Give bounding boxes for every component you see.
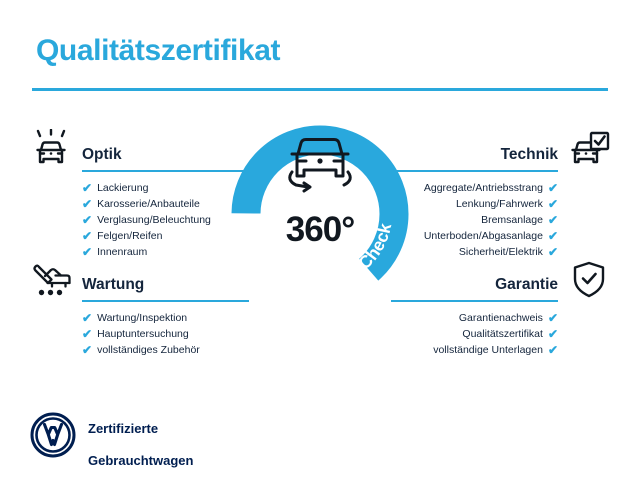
list-item-label: Hauptuntersuchung: [97, 326, 189, 342]
list-item-label: Felgen/Reifen: [97, 228, 162, 244]
list-item-label: Unterboden/Abgasanlage: [424, 228, 543, 244]
list-item-label: vollständiges Zubehör: [97, 342, 200, 358]
page-title: Qualitätszertifikat: [36, 34, 280, 68]
list-item: Aggregate/Antriebsstrang✔: [399, 180, 614, 196]
footer-line-2: Gebrauchtwagen: [88, 453, 193, 468]
title-divider: [32, 88, 608, 91]
footer-line-1: Zertifizierte: [88, 421, 158, 436]
list-item: vollständige Unterlagen✔: [399, 342, 614, 358]
check-icon: ✔: [548, 246, 558, 258]
list-item: Unterboden/Abgasanlage✔: [399, 228, 614, 244]
car-wrench-icon: [26, 258, 76, 302]
checklist-wartung: ✔Wartung/Inspektion ✔Hauptuntersuchung ✔…: [26, 310, 241, 358]
list-item-label: Wartung/Inspektion: [97, 310, 187, 326]
checklist-technik: Aggregate/Antriebsstrang✔ Lenkung/Fahrwe…: [399, 180, 614, 260]
list-item-label: Qualitätszertifikat: [462, 326, 543, 342]
section-wartung: Wartung ✔Wartung/Inspektion ✔Hauptunters…: [26, 258, 241, 358]
section-title-garantie: Garantie: [495, 276, 558, 294]
list-item: ✔Felgen/Reifen: [26, 228, 241, 244]
car-checkbox-icon: [564, 128, 614, 172]
list-item-label: vollständige Unterlagen: [433, 342, 543, 358]
check-icon: ✔: [82, 198, 92, 210]
check-icon: ✔: [82, 230, 92, 242]
list-item-label: Lackierung: [97, 180, 148, 196]
check-icon: ✔: [548, 328, 558, 340]
list-item: ✔vollständiges Zubehör: [26, 342, 241, 358]
check-icon: ✔: [82, 246, 92, 258]
section-technik: Technik Aggregate/Antriebsstrang✔ Lenkun…: [399, 128, 614, 260]
certificate-page: Qualitätszertifikat Optik ✔Lackierung ✔K…: [0, 0, 640, 480]
check-icon: ✔: [548, 198, 558, 210]
list-item-label: Karosserie/Anbauteile: [97, 196, 200, 212]
list-item: ✔Karosserie/Anbauteile: [26, 196, 241, 212]
section-header: Garantie: [399, 258, 614, 304]
list-item: ✔Wartung/Inspektion: [26, 310, 241, 326]
check-icon: ✔: [548, 312, 558, 324]
check-icon: ✔: [548, 182, 558, 194]
section-title-optik: Optik: [82, 146, 122, 164]
list-item-label: Aggregate/Antriebsstrang: [424, 180, 543, 196]
list-item-label: Verglasung/Beleuchtung: [97, 212, 211, 228]
check-icon: ✔: [82, 182, 92, 194]
section-header: Technik: [399, 128, 614, 174]
check-icon: ✔: [548, 230, 558, 242]
section-optik: Optik ✔Lackierung ✔Karosserie/Anbauteile…: [26, 128, 241, 260]
check-icon: ✔: [548, 214, 558, 226]
checklist-optik: ✔Lackierung ✔Karosserie/Anbauteile ✔Verg…: [26, 180, 241, 260]
list-item-label: Lenkung/Fahrwerk: [456, 196, 543, 212]
list-item-label: Bremsanlage: [481, 212, 543, 228]
list-item-label: Garantienachweis: [459, 310, 543, 326]
footer-text: Zertifizierte Gebrauchtwagen: [88, 405, 193, 469]
check-icon: ✔: [82, 312, 92, 324]
list-item: Bremsanlage✔: [399, 212, 614, 228]
list-item: Lenkung/Fahrwerk✔: [399, 196, 614, 212]
footer-branding: Zertifizierte Gebrauchtwagen: [30, 405, 193, 469]
car-shine-icon: [26, 128, 76, 172]
check-icon: ✔: [548, 344, 558, 356]
badge-degrees: 360°: [218, 210, 422, 250]
checklist-garantie: Garantienachweis✔ Qualitätszertifikat✔ v…: [399, 310, 614, 358]
section-title-wartung: Wartung: [82, 276, 144, 294]
section-header: Optik: [26, 128, 241, 174]
list-item: ✔Verglasung/Beleuchtung: [26, 212, 241, 228]
section-title-technik: Technik: [501, 146, 558, 164]
list-item: Garantienachweis✔: [399, 310, 614, 326]
section-garantie: Garantie Garantienachweis✔ Qualitätszert…: [399, 258, 614, 358]
list-item: ✔Lackierung: [26, 180, 241, 196]
check-icon: ✔: [82, 344, 92, 356]
check-icon: ✔: [82, 328, 92, 340]
list-item: Qualitätszertifikat✔: [399, 326, 614, 342]
badge-360-check: Gebrauchtwagen-Check 360°: [218, 112, 422, 316]
check-icon: ✔: [82, 214, 92, 226]
list-item: ✔Hauptuntersuchung: [26, 326, 241, 342]
section-header: Wartung: [26, 258, 241, 304]
shield-check-icon: [564, 258, 614, 302]
volkswagen-logo-icon: [30, 412, 76, 463]
